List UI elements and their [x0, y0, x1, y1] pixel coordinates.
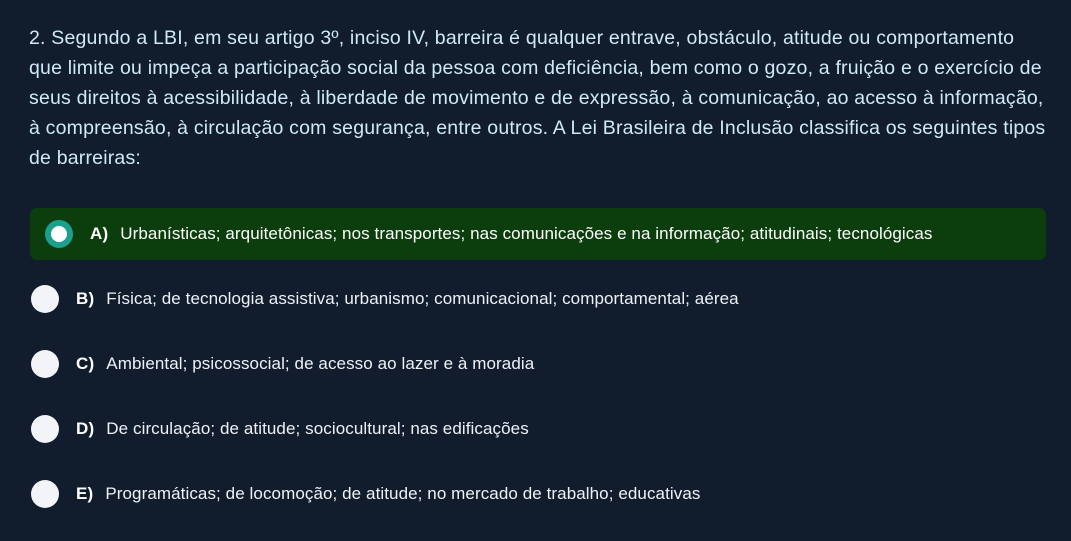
answer-option-a[interactable]: A)Urbanísticas; arquitetônicas; nos tran… [30, 208, 1046, 260]
radio-checked-icon[interactable] [45, 220, 73, 248]
radio-button-wrapper[interactable] [30, 349, 60, 379]
radio-unchecked-icon[interactable] [31, 350, 59, 378]
answer-option-c[interactable]: C)Ambiental; psicossocial; de acesso ao … [0, 338, 1071, 390]
radio-button-wrapper[interactable] [30, 479, 60, 509]
option-label: Física; de tecnologia assistiva; urbanis… [106, 289, 738, 309]
question-block: 2. Segundo a LBI, em seu artigo 3º, inci… [29, 23, 1051, 173]
radio-unchecked-icon[interactable] [31, 480, 59, 508]
radio-button-wrapper[interactable] [30, 284, 60, 314]
option-label: De circulação; de atitude; sociocultural… [106, 419, 529, 439]
answer-options-list: A)Urbanísticas; arquitetônicas; nos tran… [0, 208, 1071, 533]
option-label: Ambiental; psicossocial; de acesso ao la… [106, 354, 534, 374]
quiz-question-panel: 2. Segundo a LBI, em seu artigo 3º, inci… [0, 0, 1071, 541]
option-letter: D) [76, 419, 94, 439]
option-letter: B) [76, 289, 94, 309]
answer-option-d[interactable]: D)De circulação; de atitude; sociocultur… [0, 403, 1071, 455]
radio-unchecked-icon[interactable] [31, 415, 59, 443]
question-statement: 2. Segundo a LBI, em seu artigo 3º, inci… [29, 23, 1051, 173]
option-letter: C) [76, 354, 94, 374]
option-letter: A) [90, 224, 108, 244]
radio-unchecked-icon[interactable] [31, 285, 59, 313]
option-letter: E) [76, 484, 93, 504]
radio-button-wrapper[interactable] [44, 219, 74, 249]
option-label: Programáticas; de locomoção; de atitude;… [105, 484, 700, 504]
answer-option-e[interactable]: E)Programáticas; de locomoção; de atitud… [0, 468, 1071, 520]
answer-option-b[interactable]: B)Física; de tecnologia assistiva; urban… [0, 273, 1071, 325]
option-label: Urbanísticas; arquitetônicas; nos transp… [120, 224, 932, 244]
radio-button-wrapper[interactable] [30, 414, 60, 444]
